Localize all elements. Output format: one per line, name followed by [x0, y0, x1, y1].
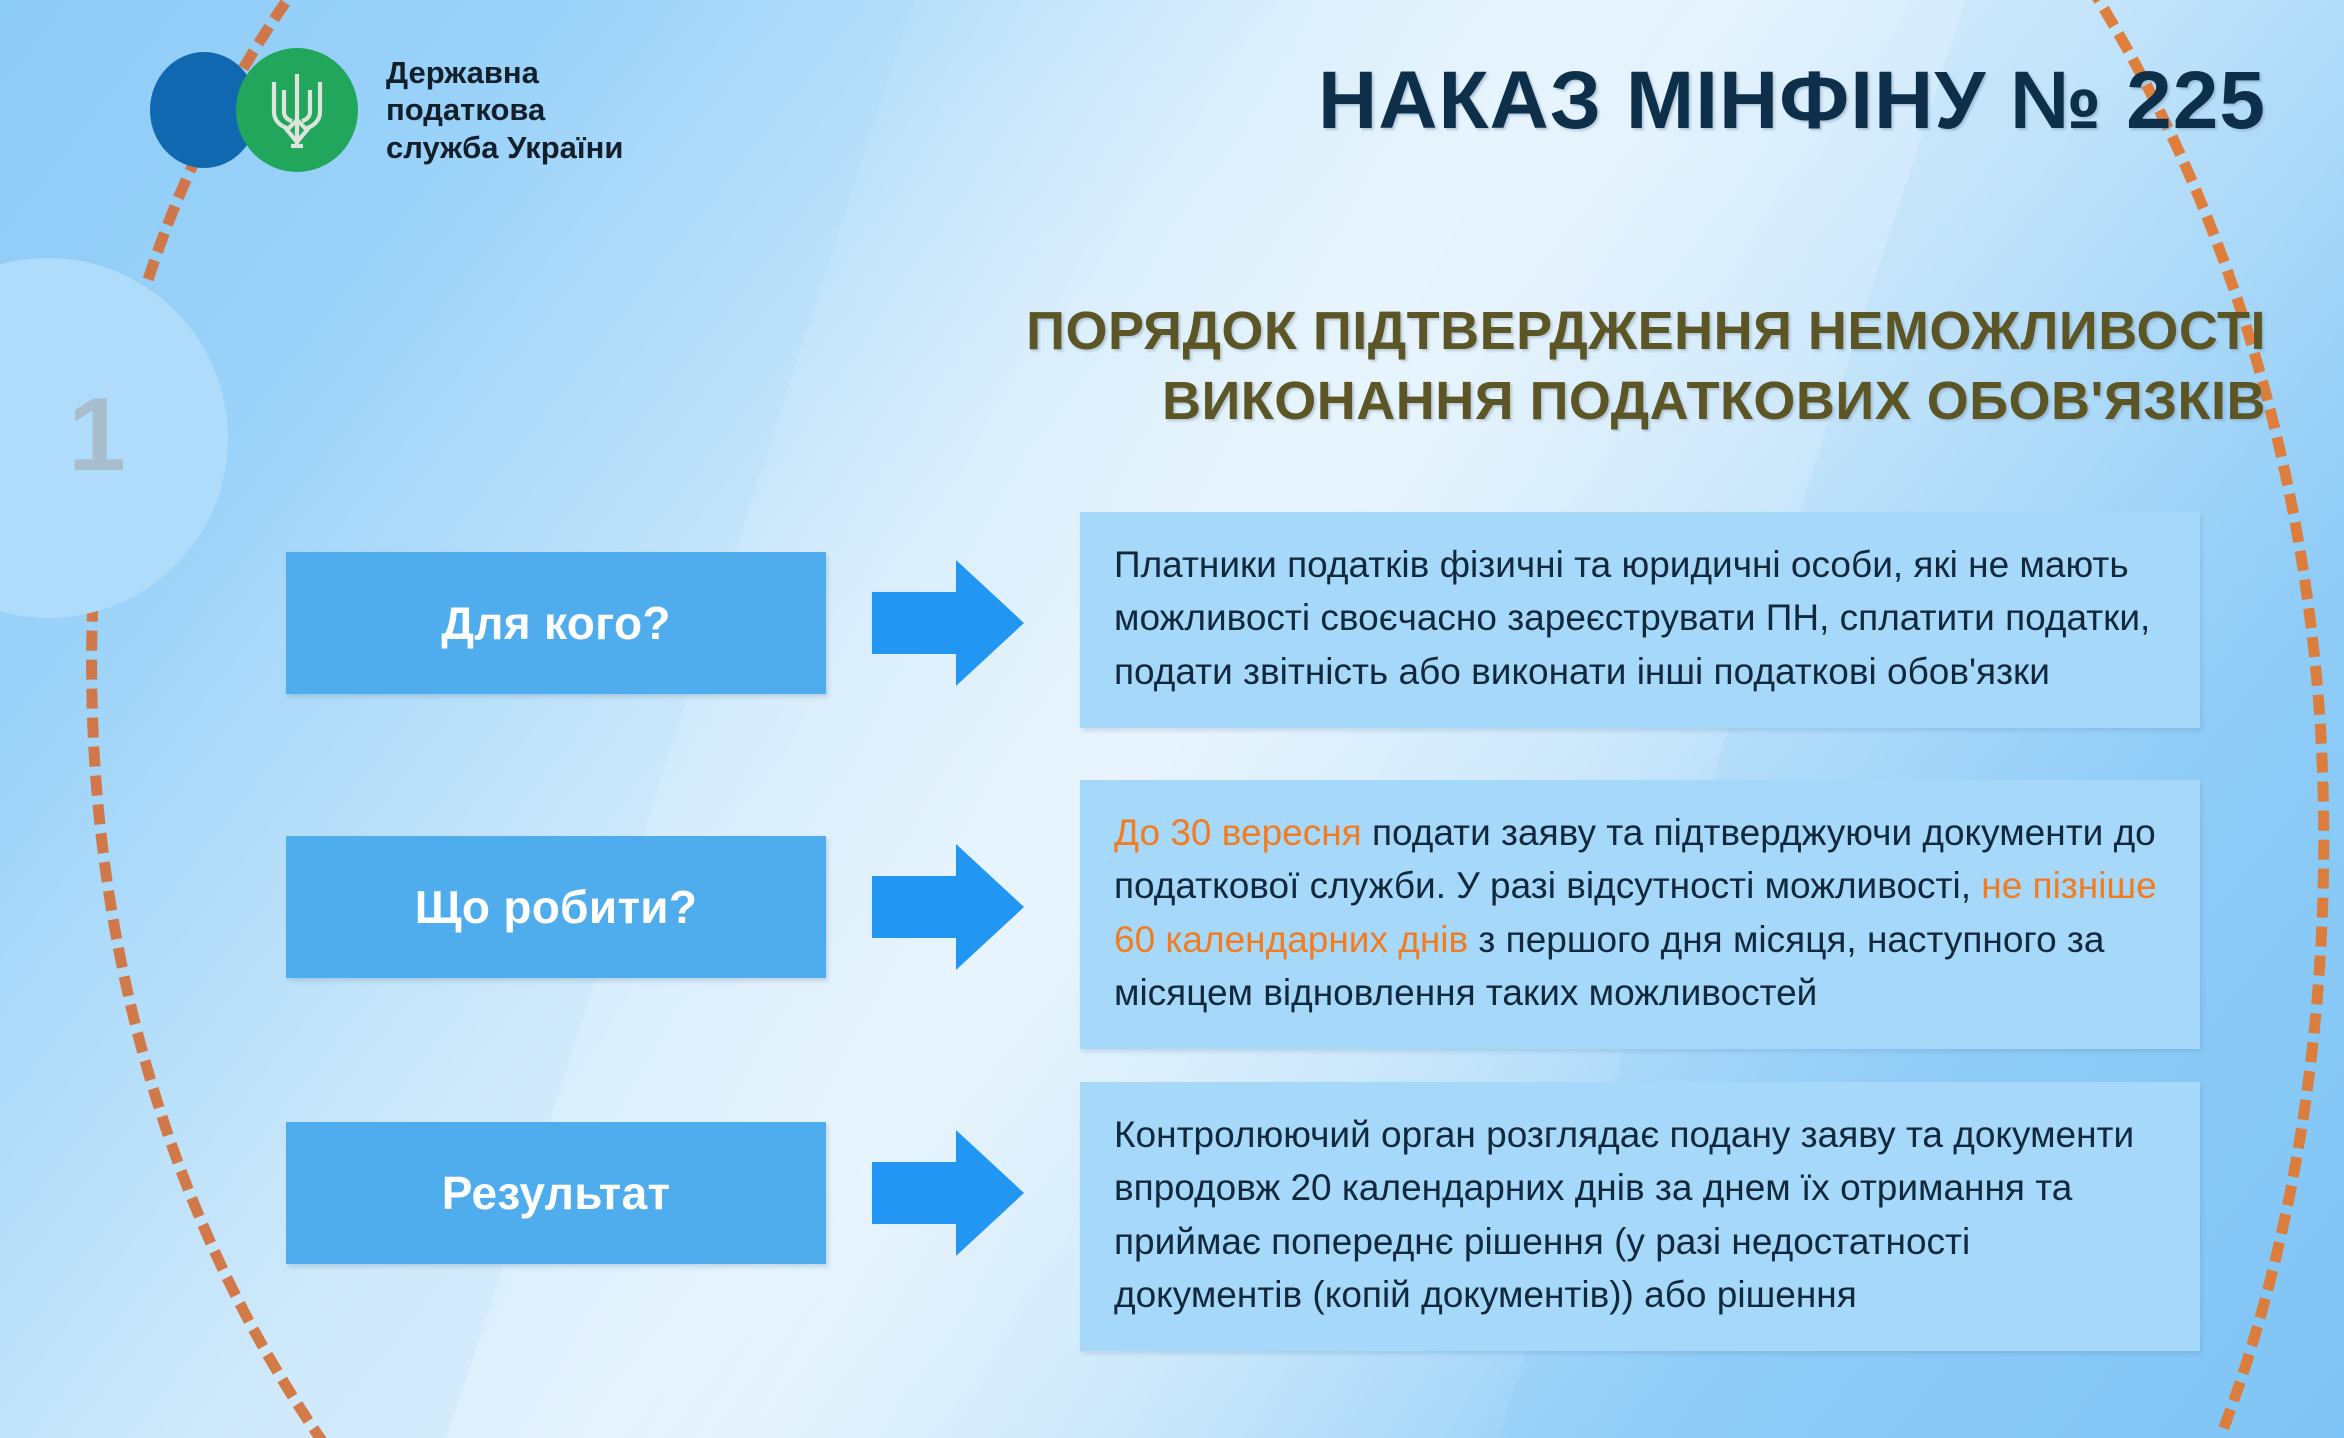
row-content-result: Контролюючий орган розглядає подану заяв…: [1080, 1082, 2200, 1351]
page-subtitle: ПОРЯДОК ПІДТВЕРДЖЕННЯ НЕМОЖЛИВОСТІ ВИКОН…: [546, 296, 2266, 436]
logo-green-circle-icon: [236, 48, 358, 172]
page-title: НАКАЗ МІНФІНУ № 225: [1318, 54, 2266, 148]
info-row-for-whom: Для кого? Платники податків фізичні та ю…: [0, 512, 2344, 728]
row-label-for-whom[interactable]: Для кого?: [286, 552, 826, 694]
deadline-highlight-september: До 30 вересня: [1114, 812, 1362, 853]
page-subtitle-line-1: ПОРЯДОК ПІДТВЕРДЖЕННЯ НЕМОЖЛИВОСТІ: [546, 296, 2266, 366]
arrow-right-icon: [872, 560, 1024, 686]
ukrainian-trident-icon: [267, 68, 327, 152]
row-content-what-to-do: До 30 вересня подати заяву та підтверджу…: [1080, 780, 2200, 1049]
info-row-what-to-do: Що робити? До 30 вересня подати заяву та…: [0, 780, 2344, 1049]
info-row-result: Результат Контролюючий орган розглядає п…: [0, 1082, 2344, 1351]
arrow-right-icon: [872, 844, 1024, 970]
arrow-right-icon: [872, 1130, 1024, 1256]
row-content-for-whom: Платники податків фізичні та юридичні ос…: [1080, 512, 2200, 728]
page-subtitle-line-2: ВИКОНАННЯ ПОДАТКОВИХ ОБОВ'ЯЗКІВ: [546, 366, 2266, 436]
step-number-value: 1: [0, 383, 124, 493]
organization-name: Державна податкова служба України: [386, 54, 623, 167]
row-label-what-to-do[interactable]: Що робити?: [286, 836, 826, 978]
slide-canvas: 1 Державна податкова служба України НАКА…: [0, 0, 2344, 1438]
organization-logo: Державна податкова служба України: [150, 50, 623, 170]
row-label-result[interactable]: Результат: [286, 1122, 826, 1264]
